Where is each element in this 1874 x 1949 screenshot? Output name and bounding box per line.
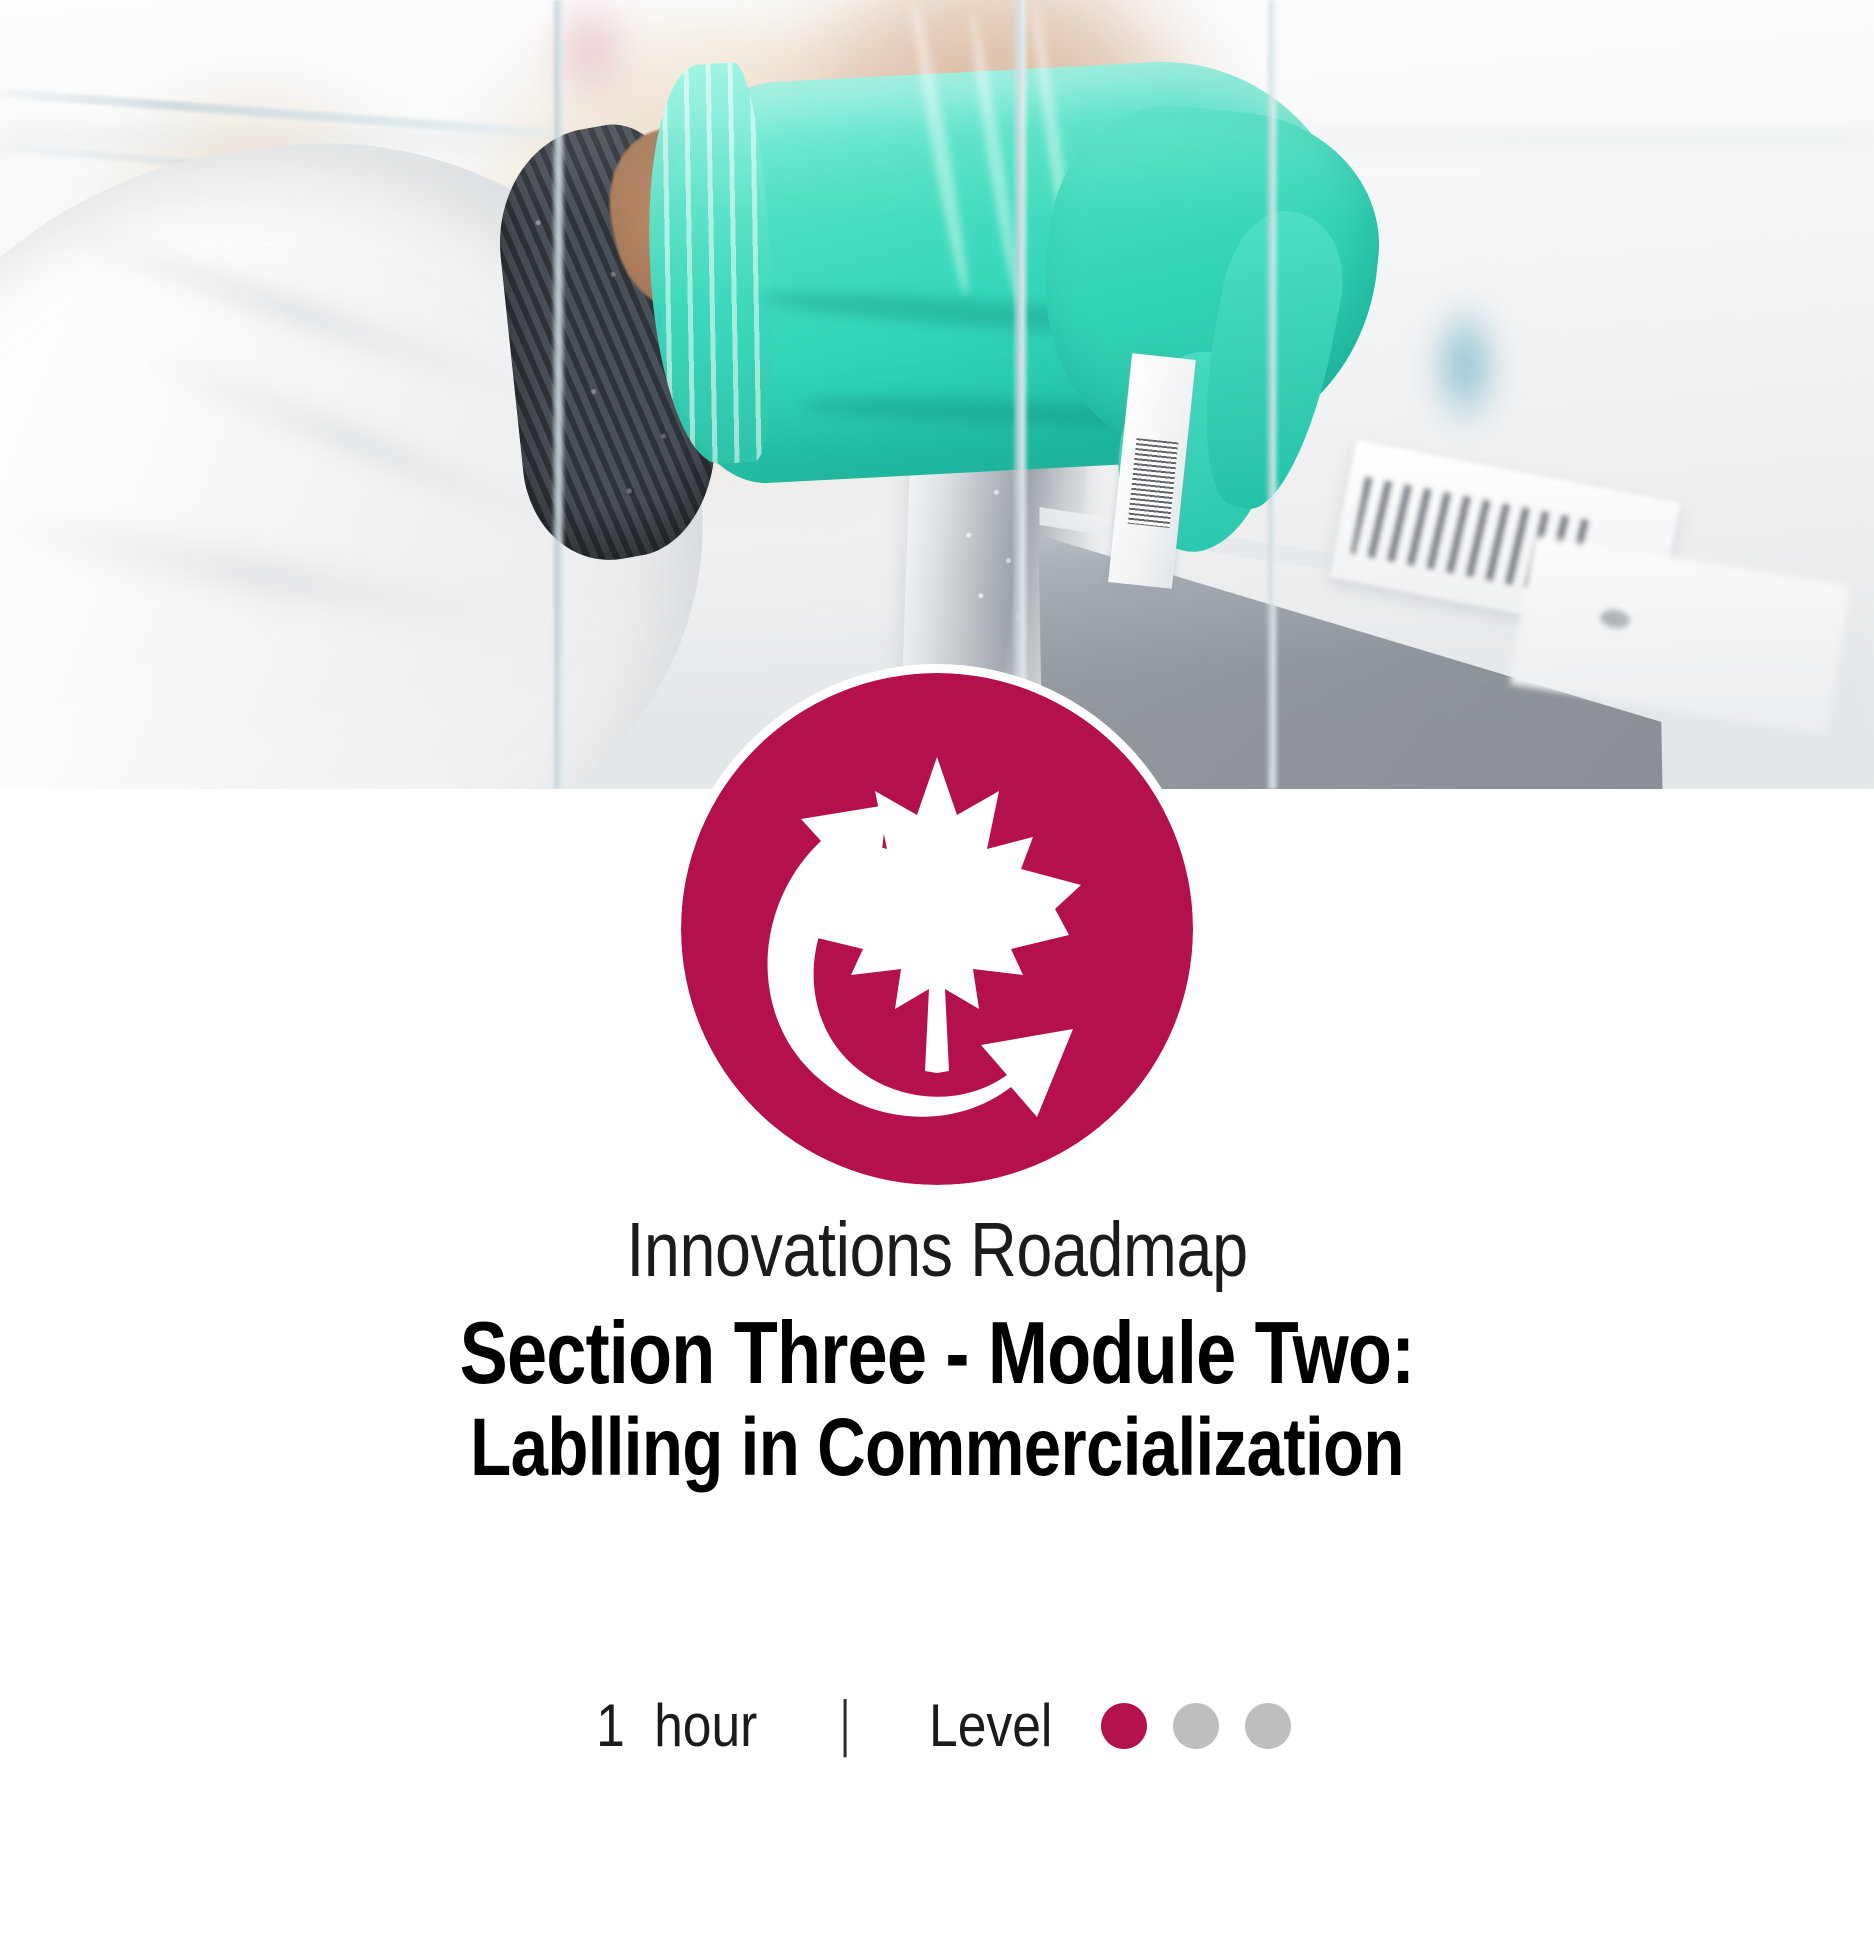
maple-leaf-path	[793, 757, 1081, 1073]
level-indicator	[1101, 1703, 1291, 1749]
course-badge	[672, 664, 1202, 1194]
meta-separator: |	[840, 1688, 850, 1759]
duration-unit: hour	[655, 1691, 758, 1760]
course-meta-row: 1 hour | Level	[0, 1690, 1874, 1761]
level-dot-3	[1245, 1703, 1291, 1749]
page-title: Section Three - Module Two:	[169, 1308, 1706, 1398]
maple-leaf-circular-arrow-icon	[681, 673, 1193, 1185]
level-dot-1	[1101, 1703, 1147, 1749]
title-block: Innovations Roadmap Section Three - Modu…	[0, 1210, 1874, 1491]
program-kicker: Innovations Roadmap	[150, 1210, 1724, 1292]
level-dot-2	[1173, 1703, 1219, 1749]
duration-value: 1	[597, 1691, 626, 1760]
level-label: Level	[929, 1691, 1052, 1760]
duration: 1 hour	[597, 1691, 758, 1760]
page-subtitle: Lablling in Commercialization	[169, 1405, 1706, 1490]
